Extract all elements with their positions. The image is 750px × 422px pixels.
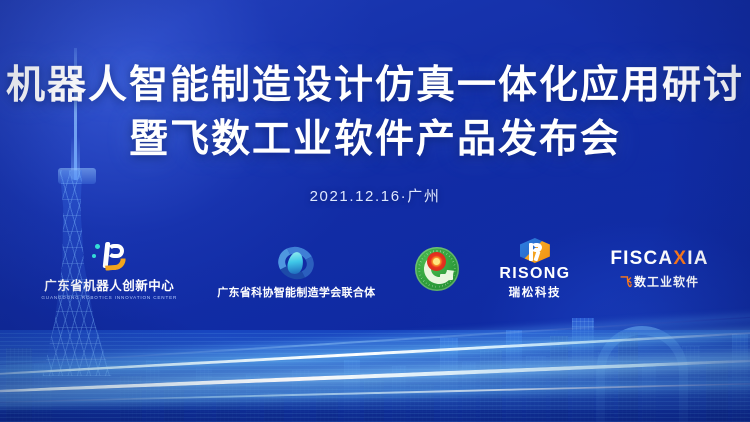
risong-hexagon-icon: [520, 238, 550, 263]
logo-name-cn: 广东省科协智能制造学会联合体: [217, 284, 375, 300]
logo-name-en: RISONG: [499, 265, 570, 283]
logo-green-g-emblem: [415, 238, 459, 300]
fiscaxia-text-part-2: IA: [687, 248, 708, 269]
event-banner: 机器人智能制造设计仿真一体化应用研讨 暨飞数工业软件产品发布会 2021.12.…: [0, 0, 750, 422]
sponsor-logo-row: 广东省机器人创新中心 GUANGDONG ROBOTICS INNOVATION…: [0, 238, 750, 300]
logo-guangdong-smart-manufacturing-alliance: 广东省科协智能制造学会联合体: [217, 238, 375, 300]
robotics-center-icon: [91, 242, 127, 272]
logo-name-cn: 广东省机器人创新中心: [44, 275, 174, 294]
logo-name-en: GUANGDONG ROBOTICS INNOVATION CENTER: [41, 295, 177, 300]
event-date-location: 2021.12.16·广州: [0, 185, 750, 206]
logo-name-cn: 瑞松科技: [509, 284, 561, 300]
logo-risong: RISONG 瑞松科技: [499, 238, 570, 300]
title-line-2: 暨飞数工业软件产品发布会: [0, 120, 750, 159]
banner-content: 机器人智能制造设计仿真一体化应用研讨 暨飞数工业软件产品发布会 2021.12.…: [0, 0, 750, 422]
title-line-1: 机器人智能制造设计仿真一体化应用研讨: [0, 66, 750, 105]
event-title: 机器人智能制造设计仿真一体化应用研讨 暨飞数工业软件产品发布会: [0, 66, 750, 159]
fiscaxia-subtitle: 飞 数工业软件: [620, 273, 699, 290]
fiscaxia-accent-letter: X: [673, 248, 687, 269]
green-g-emblem-icon: [415, 247, 459, 291]
knot-ring-icon: [278, 247, 314, 279]
logo-name-cn-accent: 飞: [620, 273, 632, 290]
fiscaxia-text-part-1: FISCA: [610, 248, 673, 269]
logo-fiscaxia: FISCAXIA 飞 数工业软件: [610, 238, 708, 300]
logo-guangdong-robotics-innovation-center: 广东省机器人创新中心 GUANGDONG ROBOTICS INNOVATION…: [41, 238, 177, 300]
logo-name-cn-rest: 数工业软件: [634, 273, 699, 290]
fiscaxia-wordmark: FISCAXIA: [610, 248, 708, 270]
